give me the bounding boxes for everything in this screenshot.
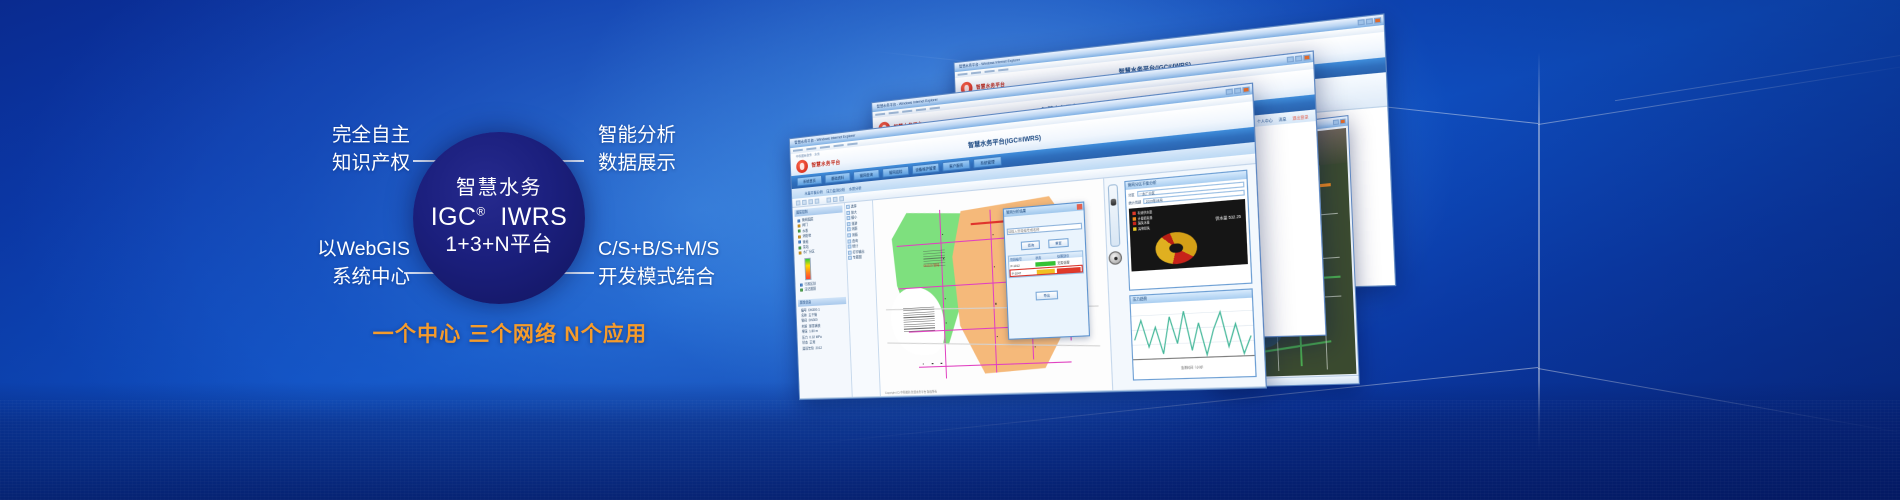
- menu-item: [834, 144, 844, 147]
- attr-value: 0.32 MPa: [809, 334, 821, 339]
- layer-label[interactable]: 水表: [802, 229, 808, 234]
- menu-item: [985, 70, 995, 73]
- layer-label[interactable]: 注记图层: [805, 287, 817, 292]
- tool-item: 专题图: [848, 254, 873, 262]
- status-coords: 坐标 X:118.32 Y:31.86: [837, 399, 865, 400]
- layer-label[interactable]: 水厂分区: [803, 250, 815, 255]
- tool-label[interactable]: 打印输出: [852, 249, 864, 254]
- hub-platform: 1+3+N平台: [445, 232, 552, 258]
- subnav-item-quality[interactable]: 水质分析: [849, 185, 862, 191]
- hub-product-tail: IWRS: [500, 203, 567, 231]
- feature-bottom-left-line2: 系统中心: [278, 264, 410, 292]
- tool-icon: [846, 205, 850, 209]
- feature-top-right-line2: 数据展示: [598, 150, 676, 178]
- maximize-icon[interactable]: [1366, 18, 1373, 25]
- minimize-icon[interactable]: [1287, 56, 1294, 63]
- status-badge-ok: [1036, 260, 1056, 266]
- attr-value: 2012: [815, 345, 822, 349]
- zoom-in-tool-icon[interactable]: [802, 199, 807, 204]
- attr-key: 管径: [801, 319, 807, 323]
- legend-swatch: [1132, 212, 1136, 216]
- search-input[interactable]: [1007, 223, 1082, 236]
- tool-label[interactable]: 缩小: [851, 215, 857, 220]
- tool-label[interactable]: 测面: [852, 233, 858, 238]
- tool-icon: [847, 239, 851, 243]
- toolbar-link[interactable]: 个人中心: [1257, 117, 1273, 124]
- cell-advice: 无需处理: [1056, 259, 1082, 265]
- grid-line-upper-right: [1538, 61, 1900, 125]
- registered-icon: ®: [476, 205, 485, 219]
- attr-value: 1.80 m: [809, 329, 818, 333]
- close-icon[interactable]: [1340, 119, 1346, 125]
- result-table: 管段编号 状态 处理建议 P-1012 无需处理: [1008, 250, 1084, 278]
- window-front-controls[interactable]: [1226, 86, 1250, 95]
- close-icon[interactable]: [1242, 86, 1250, 93]
- attr-value: DN300: [809, 318, 818, 323]
- maximize-icon[interactable]: [1295, 55, 1302, 62]
- legend-swatch: [1133, 227, 1137, 231]
- layer-color-swatch: [800, 283, 803, 286]
- attr-value: 球墨铸铁: [809, 324, 821, 329]
- menu-item: [793, 149, 803, 152]
- layer-color-swatch: [799, 251, 802, 254]
- menu-item: [847, 142, 857, 145]
- attr-key: 材质: [802, 324, 808, 328]
- legend-label: 有效供水量: [1137, 211, 1152, 216]
- menu-item: [889, 111, 899, 114]
- tool-icon: [847, 227, 851, 231]
- menu-item: [930, 107, 940, 110]
- export-button[interactable]: 导出: [1036, 291, 1058, 301]
- hub-circle: 智慧水务 IGC® IWRS 1+3+N平台: [413, 132, 585, 304]
- attr-key: 压力: [802, 335, 808, 339]
- zoom-slider-knob[interactable]: [1111, 199, 1117, 206]
- cell-id: P-1012: [1009, 262, 1034, 268]
- layer-label[interactable]: 行政区划: [804, 281, 816, 286]
- nav-item-home[interactable]: 系统首页: [797, 175, 823, 187]
- feature-bottom-left-line1: 以WebGIS: [317, 238, 410, 260]
- analysis-dialog[interactable]: 管网分析结果 查询 重置 管段编号: [1003, 201, 1090, 339]
- grid-line-lower-right: [1538, 368, 1900, 439]
- application-window-stack: 智慧水务平台 - Windows Internet Explorer 智慧水务平…: [790, 40, 1550, 400]
- hub-product-main: IGC: [431, 203, 477, 231]
- layer-panel[interactable]: 图层控制 管网图层 阀门 水表 消防栓 管段 泵站 水厂分区 行政区划 注记图层…: [793, 203, 853, 398]
- toolbar-link-logout[interactable]: 退出登录: [1292, 113, 1308, 120]
- identify-tool-icon[interactable]: [833, 196, 838, 202]
- trend-chart-svg: [1131, 298, 1255, 367]
- layer-color-swatch: [798, 241, 801, 244]
- legend-label: 其他损失: [1138, 226, 1150, 230]
- dashboard-panel[interactable]: 管网分区平衡分析 分区 一水厂分区 统计周期 2023年08月 有效供水量: [1124, 170, 1252, 291]
- zoom-out-tool-icon[interactable]: [808, 199, 813, 204]
- right-dock: 管网分区平衡分析 分区 一水厂分区 统计周期 2023年08月 有效供水量: [1103, 164, 1266, 390]
- layer-color-swatch: [798, 235, 801, 238]
- feature-bottom-right-line2: 开发模式结合: [598, 264, 719, 292]
- attribute-panel-title: 属性信息: [798, 297, 846, 307]
- feature-top-left-line1: 完全自主: [332, 124, 410, 146]
- feature-top-right-line1: 智能分析: [598, 124, 676, 146]
- analysis-dialog-body: 查询 重置 管段编号 状态 处理建议 P-1012: [1004, 210, 1087, 306]
- menu-item: [998, 68, 1008, 71]
- tool-icon: [846, 210, 850, 214]
- tool-icon: [847, 222, 851, 226]
- menu-item: [875, 113, 885, 116]
- attr-value: 主干管: [808, 313, 817, 318]
- nav-item-base-data[interactable]: 基础资料: [825, 172, 851, 184]
- maximize-icon[interactable]: [1234, 87, 1241, 94]
- window-back-controls[interactable]: [1358, 17, 1382, 25]
- subnav-item-balance[interactable]: 水量平衡分析: [804, 188, 823, 195]
- menu-item: [820, 146, 830, 149]
- layer-color-swatch: [798, 246, 801, 249]
- legend-swatch: [1133, 217, 1137, 221]
- feature-bottom-right-line1: C/S+B/S+M/S: [598, 238, 719, 260]
- menu-item: [958, 73, 968, 76]
- tool-label[interactable]: 查询: [852, 238, 858, 243]
- minimize-icon[interactable]: [1358, 19, 1365, 25]
- attr-key: 建设年份: [802, 346, 814, 351]
- map-node: [941, 362, 942, 363]
- tool-icon: [848, 245, 852, 249]
- menu-item: [902, 110, 912, 113]
- tool-label[interactable]: 选择: [851, 204, 857, 209]
- minimize-icon[interactable]: [1226, 88, 1233, 95]
- window-front-brand-small: 中科图新软件 · 水务: [796, 152, 820, 159]
- status-badge-warn: [1036, 268, 1055, 274]
- layer-label[interactable]: 消防栓: [802, 234, 811, 239]
- donut-chart: [1155, 231, 1198, 266]
- table-row: 建设年份 2012: [802, 344, 848, 351]
- tool-icon: [846, 216, 850, 220]
- analysis-dialog-buttons[interactable]: 查询 重置: [1007, 237, 1082, 251]
- concept-diagram: 智慧水务 IGC® IWRS 1+3+N平台 完全自主 知识产权 智能分析 数据…: [0, 0, 820, 500]
- pan-tool-icon[interactable]: [815, 198, 820, 203]
- tool-label[interactable]: 统计: [852, 244, 858, 249]
- layer-label[interactable]: 管段: [803, 239, 809, 243]
- menu-item: [971, 71, 981, 74]
- query-button[interactable]: 查询: [1021, 240, 1040, 250]
- banner-root: 智慧水务 IGC® IWRS 1+3+N平台 完全自主 知识产权 智能分析 数据…: [0, 0, 1900, 500]
- map-node: [932, 363, 933, 364]
- nav-item-maintain[interactable]: 设备维护管理: [912, 162, 940, 174]
- status-badge-alert: [1057, 266, 1080, 272]
- donut-caption: 供水量 532.25: [1215, 213, 1241, 221]
- tool-label[interactable]: 测距: [852, 227, 858, 232]
- select-tool-icon[interactable]: [796, 200, 801, 205]
- subnav-item-pressure[interactable]: 压力监测分析: [826, 186, 845, 193]
- trend-chart-panel[interactable]: 压力趋势 监测时间（小时）: [1129, 288, 1256, 380]
- legend-label: 计量损失量: [1138, 216, 1153, 221]
- feature-top-right: 智能分析 数据展示: [598, 122, 676, 177]
- analysis-dialog-footer[interactable]: 导出: [1009, 280, 1085, 304]
- tool-icon: [848, 256, 852, 260]
- pan-navigation-pad[interactable]: [1108, 251, 1122, 265]
- tool-label[interactable]: 漫游: [851, 221, 857, 226]
- window-front[interactable]: 智慧水务平台 - Windows Internet Explorer 中科图新软…: [789, 83, 1267, 401]
- tagline: 一个中心 三个网络 N个应用: [300, 318, 720, 348]
- donut-chart-container: 有效供水量 计量损失量 漏失水量 其他损失 供水量 532.25: [1129, 199, 1248, 272]
- attr-value: 正常: [809, 340, 815, 344]
- hub-title: 智慧水务: [456, 177, 542, 200]
- dashboard-select-label: 分区: [1128, 192, 1134, 197]
- hub-product-name: IGC® IWRS: [431, 202, 567, 232]
- tool-icon: [848, 250, 852, 254]
- layer-color-swatch: [797, 219, 800, 222]
- legend-color-ramp: [804, 258, 811, 281]
- reset-button[interactable]: 重置: [1049, 238, 1069, 248]
- nav-item-patrol[interactable]: 管网巡检: [882, 166, 909, 178]
- layer-label[interactable]: 管网图层: [802, 217, 814, 222]
- donut-legend: 有效供水量 计量损失量 漏失水量 其他损失: [1132, 210, 1153, 232]
- layer-color-swatch: [798, 230, 801, 233]
- close-icon[interactable]: [1303, 54, 1310, 61]
- zoom-slider[interactable]: [1108, 184, 1121, 247]
- measure-tool-icon[interactable]: [826, 197, 831, 202]
- dashboard-period-label: 统计周期: [1128, 199, 1141, 205]
- print-tool-icon[interactable]: [839, 196, 844, 202]
- menu-item: [916, 108, 926, 111]
- layer-tree[interactable]: 管网图层 阀门 水表 消防栓 管段 泵站 水厂分区 行政区划 注记图层: [795, 214, 846, 293]
- feature-bottom-left: 以WebGIS 系统中心: [278, 236, 410, 291]
- toolbar-link[interactable]: 消息: [1278, 115, 1286, 121]
- attr-key: 编号: [801, 308, 807, 312]
- tool-icon: [847, 233, 851, 237]
- gis-map-canvas[interactable]: DN300 管段 管网分析结果 查询 重置: [873, 179, 1112, 396]
- attr-key: 名称: [801, 313, 807, 317]
- layer-color-swatch: [798, 224, 801, 227]
- legend-label: 漏失水量: [1138, 221, 1150, 225]
- close-icon[interactable]: [1077, 204, 1083, 210]
- legend-swatch: [1133, 222, 1137, 226]
- window-front-apptitle: 智慧水务平台(IGC®IWRS): [968, 132, 1041, 150]
- nav-item-query[interactable]: 管网查询: [853, 169, 880, 181]
- cell-id: P-1047: [1011, 269, 1036, 275]
- map-label-cluster: [903, 307, 935, 332]
- tool-label[interactable]: 专题图: [853, 255, 862, 260]
- layer-label[interactable]: 阀门: [802, 223, 808, 228]
- window-middle-controls[interactable]: [1287, 54, 1311, 62]
- nav-item-service[interactable]: 客户服务: [942, 159, 970, 171]
- feature-bottom-right: C/S+B/S+M/S 开发模式结合: [598, 236, 719, 291]
- feature-top-left: 完全自主 知识产权: [298, 122, 410, 177]
- close-icon[interactable]: [1374, 17, 1381, 24]
- attribute-table: 编号 DN300-1 名称 主干管 管径 DN300 材质 球墨铸铁 埋深 1.…: [798, 306, 848, 352]
- window-satellite-controls[interactable]: [1333, 119, 1346, 126]
- menu-item: [806, 147, 816, 150]
- nav-item-system[interactable]: 系统管理: [973, 156, 1002, 169]
- analysis-dialog-title: 管网分析结果: [1006, 209, 1026, 215]
- tool-label[interactable]: 放大: [851, 210, 857, 215]
- company-logo-icon: [796, 159, 808, 173]
- attr-value: DN300-1: [808, 307, 820, 312]
- feature-top-left-line2: 知识产权: [298, 150, 410, 178]
- window-front-brand: 智慧水务平台: [811, 159, 840, 169]
- attr-key: 埋深: [802, 330, 808, 334]
- attr-key: 状态: [802, 341, 808, 345]
- layer-item: 注记图层: [800, 285, 846, 293]
- grid-line-wall-left: [1615, 34, 1900, 101]
- legend-entry: 其他损失: [1133, 225, 1153, 232]
- layer-label[interactable]: 泵站: [803, 245, 809, 249]
- layer-color-swatch: [800, 288, 803, 291]
- minimize-icon[interactable]: [1333, 119, 1339, 125]
